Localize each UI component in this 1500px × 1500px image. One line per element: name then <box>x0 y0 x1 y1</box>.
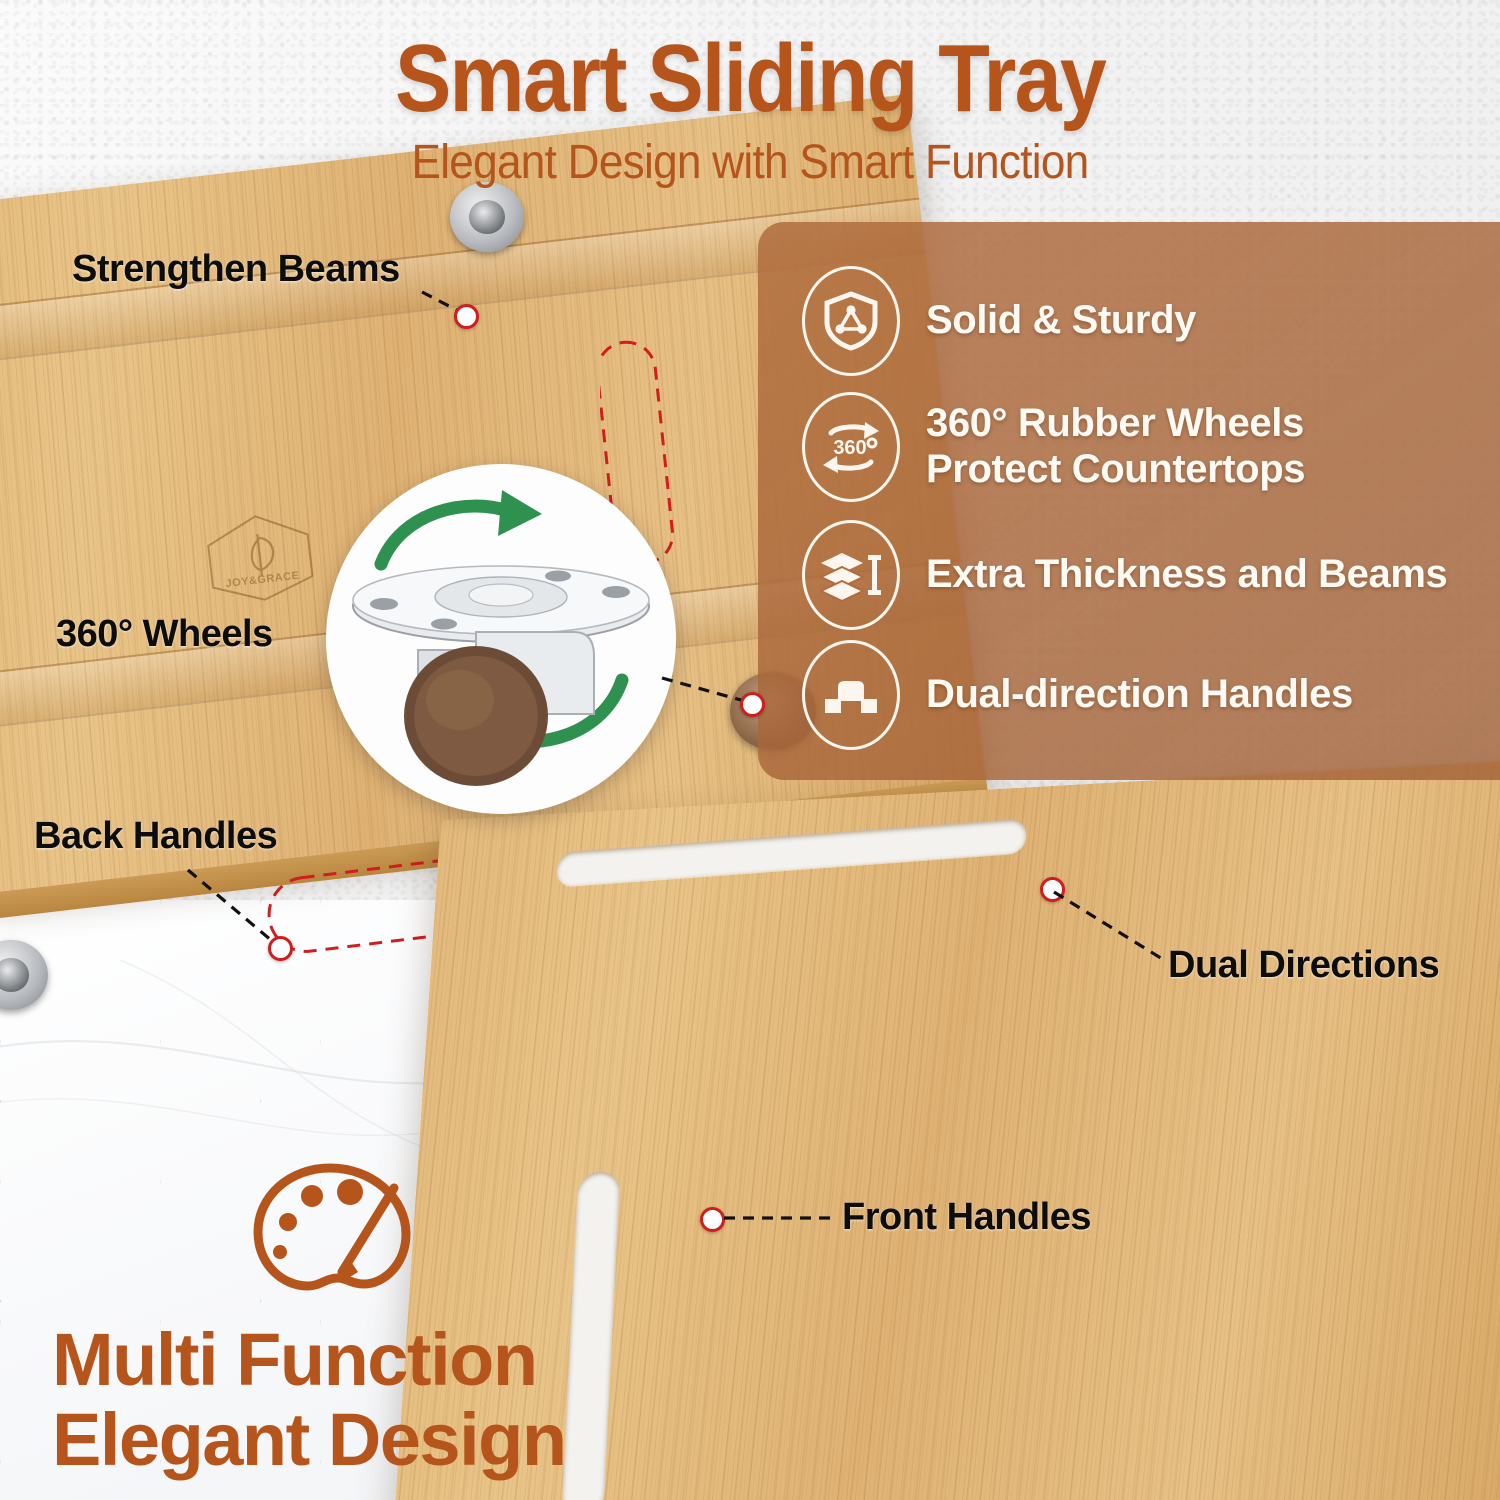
palette-brush-icon <box>246 1160 416 1315</box>
callout-360-wheels: 360° Wheels <box>56 613 273 656</box>
brand-logo-engraving: JOY&GRACE <box>195 505 325 610</box>
360-rotation-icon: 360 <box>802 392 900 502</box>
feature-item-solid-sturdy: Solid & Sturdy <box>802 266 1196 376</box>
layers-thickness-icon-glyph <box>820 547 882 603</box>
feature-label-rubber-wheels-line1: 360° Rubber Wheels <box>926 401 1305 447</box>
caster-wheel-top-right <box>450 182 524 252</box>
hexagon-leaf-icon <box>195 505 325 610</box>
footer-tagline: Multi Function Elegant Design <box>52 1320 652 1480</box>
callout-front-handles: Front Handles <box>842 1196 1091 1239</box>
feature-label-rubber-wheels-line2: Protect Countertops <box>926 447 1305 493</box>
callout-dual-directions: Dual Directions <box>1168 944 1439 987</box>
shield-icon-glyph <box>823 291 879 351</box>
page-title: Smart Sliding Tray <box>90 24 1410 134</box>
handle-icon <box>802 640 900 750</box>
footer-tagline-line2: Elegant Design <box>52 1400 652 1480</box>
caster-mounting-plate <box>353 566 649 642</box>
caster-wheel-zoom-inset <box>326 464 676 814</box>
callout-dot-strengthen-beams <box>454 304 479 329</box>
back-handle-slot <box>556 818 1027 887</box>
rotation-arrow-top <box>381 490 542 564</box>
feature-label-dual-handles: Dual-direction Handles <box>926 672 1353 718</box>
feature-item-extra-thickness: Extra Thickness and Beams <box>802 520 1447 630</box>
feature-item-dual-handles: Dual-direction Handles <box>802 640 1353 750</box>
callout-strengthen-beams: Strengthen Beams <box>72 248 400 291</box>
footer-tagline-line1: Multi Function <box>52 1320 652 1400</box>
feature-label-extra-thickness: Extra Thickness and Beams <box>926 552 1447 598</box>
rubber-wheel <box>404 646 548 786</box>
leader-line-dual-directions <box>1052 890 1182 970</box>
leader-line-front-handles <box>722 1208 842 1228</box>
shield-icon <box>802 266 900 376</box>
page-subtitle: Elegant Design with Smart Function <box>60 135 1440 190</box>
handle-icon-glyph <box>821 673 881 717</box>
feature-label-solid-sturdy: Solid & Sturdy <box>926 298 1196 344</box>
callout-dot-back-handles <box>268 936 293 961</box>
feature-label-rubber-wheels: 360° Rubber Wheels Protect Countertops <box>926 401 1305 492</box>
callout-dot-wheel-inset <box>740 692 765 717</box>
feature-item-rubber-wheels: 360 360° Rubber Wheels Protect Counterto… <box>802 392 1305 502</box>
swivel-caster-illustration <box>326 464 676 814</box>
feature-panel: Solid & Sturdy 360 360° Rubber Wheels Pr… <box>758 222 1500 780</box>
svg-text:360: 360 <box>833 437 866 459</box>
layers-thickness-icon <box>802 520 900 630</box>
infographic-canvas: JOY&GRACE <box>0 0 1500 1500</box>
palette-brush-icon-glyph <box>246 1160 416 1310</box>
360-rotation-icon-glyph: 360 <box>821 418 881 476</box>
callout-back-handles: Back Handles <box>34 815 277 858</box>
